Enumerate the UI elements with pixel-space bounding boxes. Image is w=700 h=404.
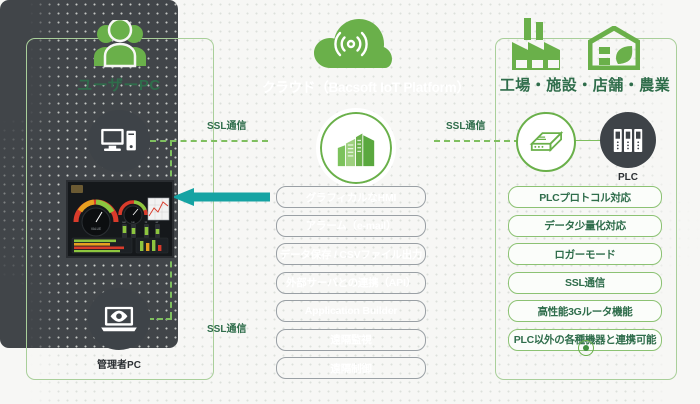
- green-dot-marker: [578, 340, 594, 356]
- admin-pc-caption: 管理者PC: [68, 356, 170, 371]
- greenhouse-leaf-icon: [588, 26, 640, 70]
- svg-text:run: run: [131, 220, 135, 224]
- ssl-label-user: SSL通信: [207, 117, 246, 132]
- cloud-feature-item[interactable]: データ保存 / CSVファイル出力: [276, 243, 426, 265]
- svg-text:VALUE: VALUE: [91, 227, 101, 231]
- field-site-heading: 工場・施設・店舗・農業: [485, 74, 685, 95]
- connector-userpc-to-cloud: [150, 140, 268, 142]
- factory-icon: [512, 18, 578, 70]
- ssl-label-admin: SSL通信: [207, 320, 246, 335]
- desktop-pc-icon: [88, 110, 150, 172]
- users-group-icon: [92, 20, 148, 68]
- cloud-feature-item[interactable]: グラフィカルなHMI: [276, 186, 426, 208]
- cloud-feature-list: グラフィカルなHMI アラーム（e-mail） データ保存 / CSVファイル出…: [276, 186, 426, 386]
- plc-caption: PLC: [598, 172, 658, 183]
- cloud-feature-item[interactable]: 遠隔監視: [276, 329, 426, 351]
- field-feature-list: PLCプロトコル対応 データ少量化対応 ロガーモード SSL通信 高性能3Gルー…: [508, 186, 662, 357]
- svg-text:lvl: lvl: [145, 220, 148, 224]
- cloud-feature-item[interactable]: アラーム（e-mail）: [276, 215, 426, 237]
- buildings-icon: [316, 108, 396, 188]
- graphical-hmi-dashboard-preview: VALUE set run lvl air: [66, 180, 174, 258]
- field-feature-item[interactable]: データ少量化対応: [508, 215, 662, 237]
- connector-cloud-to-router: [434, 140, 520, 142]
- plc-modules-icon: [600, 112, 656, 168]
- cloud-feature-item[interactable]: Application Builder: [276, 300, 426, 322]
- field-feature-item[interactable]: SSL通信: [508, 272, 662, 294]
- ssl-label-field: SSL通信: [446, 117, 485, 132]
- field-feature-item[interactable]: 高性能3Gルータ機能: [508, 300, 662, 322]
- router-gateway-icon: [516, 112, 576, 172]
- cloud-wifi-icon: [310, 14, 392, 70]
- laptop-eye-icon: [88, 288, 150, 350]
- connector-adminpc-to-branch: [148, 318, 172, 320]
- cloud-feature-item[interactable]: 外部サーバとの連携（API）: [276, 272, 426, 294]
- svg-text:air: air: [156, 220, 159, 224]
- field-feature-item[interactable]: ロガーモード: [508, 243, 662, 265]
- user-pc-heading: ユーザーPC: [26, 74, 212, 95]
- field-feature-item[interactable]: PLCプロトコル対応: [508, 186, 662, 208]
- cloud-heading: クラウド（Bacsoft IoT Platform）: [262, 76, 440, 96]
- svg-text:set: set: [122, 220, 126, 224]
- hmi-data-arrow: [172, 188, 270, 206]
- cloud-feature-item[interactable]: 遠隔制御: [276, 357, 426, 379]
- diagram-canvas: SSL通信 SSL通信 SSL通信: [0, 0, 700, 404]
